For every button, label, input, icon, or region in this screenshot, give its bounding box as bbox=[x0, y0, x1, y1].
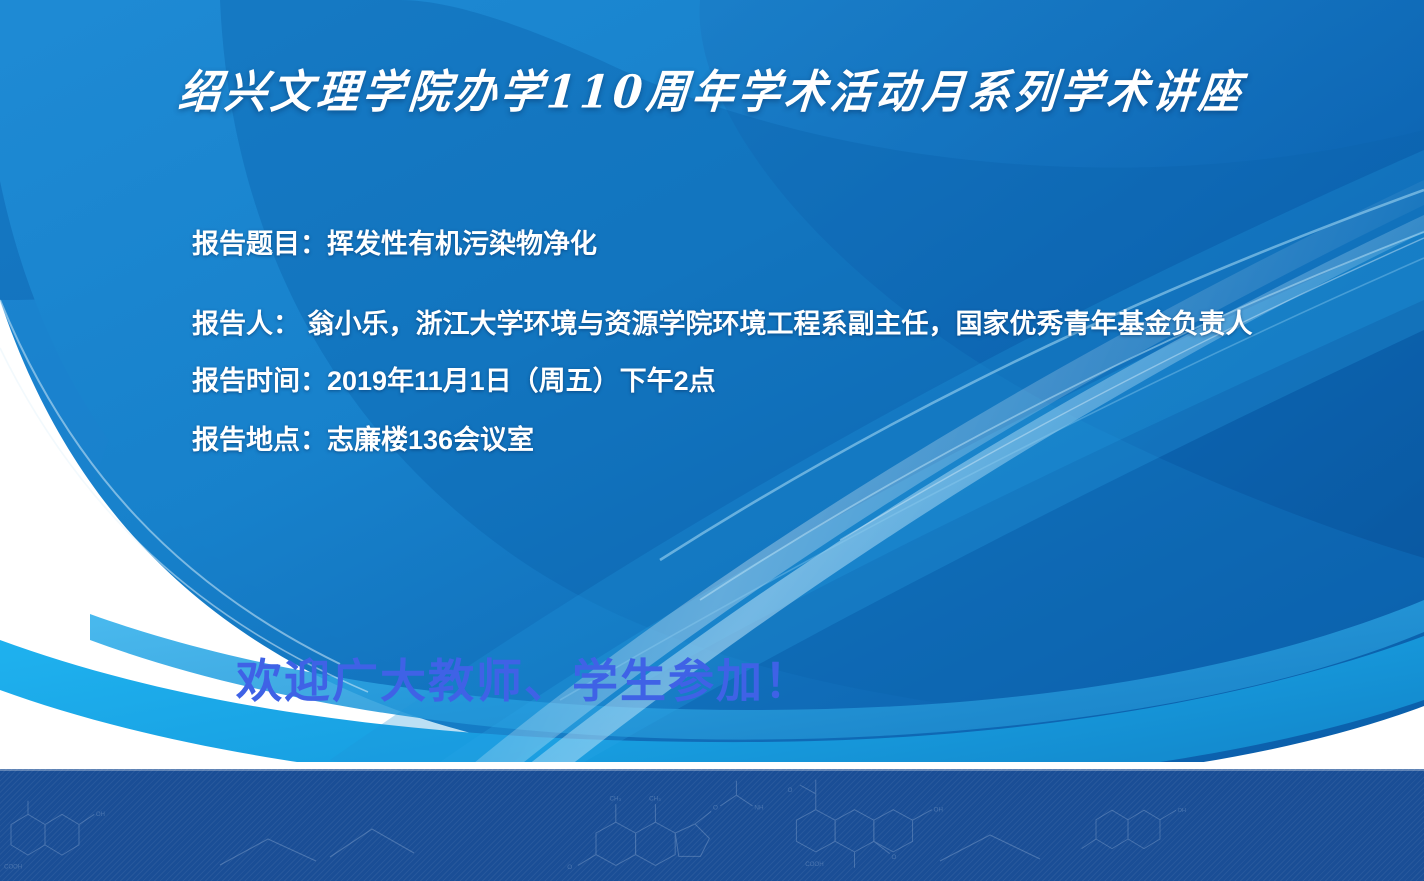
lecture-title-line: 报告题目：挥发性有机污染物净化 bbox=[192, 228, 1407, 262]
svg-text:CH₃: CH₃ bbox=[610, 796, 622, 803]
svg-text:OH: OH bbox=[934, 806, 943, 813]
lecture-time-line: 报告时间：2019年11月1日（周五）下午2点 bbox=[192, 365, 1407, 399]
svg-text:O: O bbox=[788, 787, 793, 794]
svg-text:O: O bbox=[567, 864, 572, 871]
svg-text:COOH: COOH bbox=[805, 861, 823, 868]
svg-text:CH₃: CH₃ bbox=[649, 796, 661, 803]
bottom-decorative-band: CH₃ CH₃ O O NH bbox=[0, 769, 1424, 881]
poster-canvas: 绍兴文理学院办学110周年学术活动月系列学术讲座 报告题目：挥发性有机污染物净化… bbox=[0, 0, 1424, 881]
lecture-info-block: 报告题目：挥发性有机污染物净化 报告人： 翁小乐，浙江大学环境与资源学院环境工程… bbox=[192, 228, 1407, 458]
lecture-speaker-line: 报告人： 翁小乐，浙江大学环境与资源学院环境工程系副主任，国家优秀青年基金负责人 bbox=[192, 308, 1407, 342]
svg-text:O: O bbox=[713, 805, 718, 812]
lecture-place-line: 报告地点：志廉楼136会议室 bbox=[192, 424, 1407, 458]
chemical-structure-watermark: CH₃ CH₃ O O NH bbox=[0, 769, 1424, 881]
welcome-message: 欢迎广大教师、学生参加！ bbox=[236, 645, 812, 711]
welcome-message-text: 欢迎广大教师、学生参加！ bbox=[236, 655, 812, 707]
svg-text:OH: OH bbox=[96, 812, 105, 818]
svg-text:OH: OH bbox=[1178, 808, 1186, 814]
svg-text:O: O bbox=[891, 854, 896, 861]
poster-title: 绍兴文理学院办学110周年学术活动月系列学术讲座 bbox=[0, 58, 1424, 119]
poster-title-text: 绍兴文理学院办学110周年学术活动月系列学术讲座 bbox=[176, 56, 1247, 122]
svg-text:COOH: COOH bbox=[4, 865, 22, 871]
svg-text:NH: NH bbox=[754, 805, 764, 812]
